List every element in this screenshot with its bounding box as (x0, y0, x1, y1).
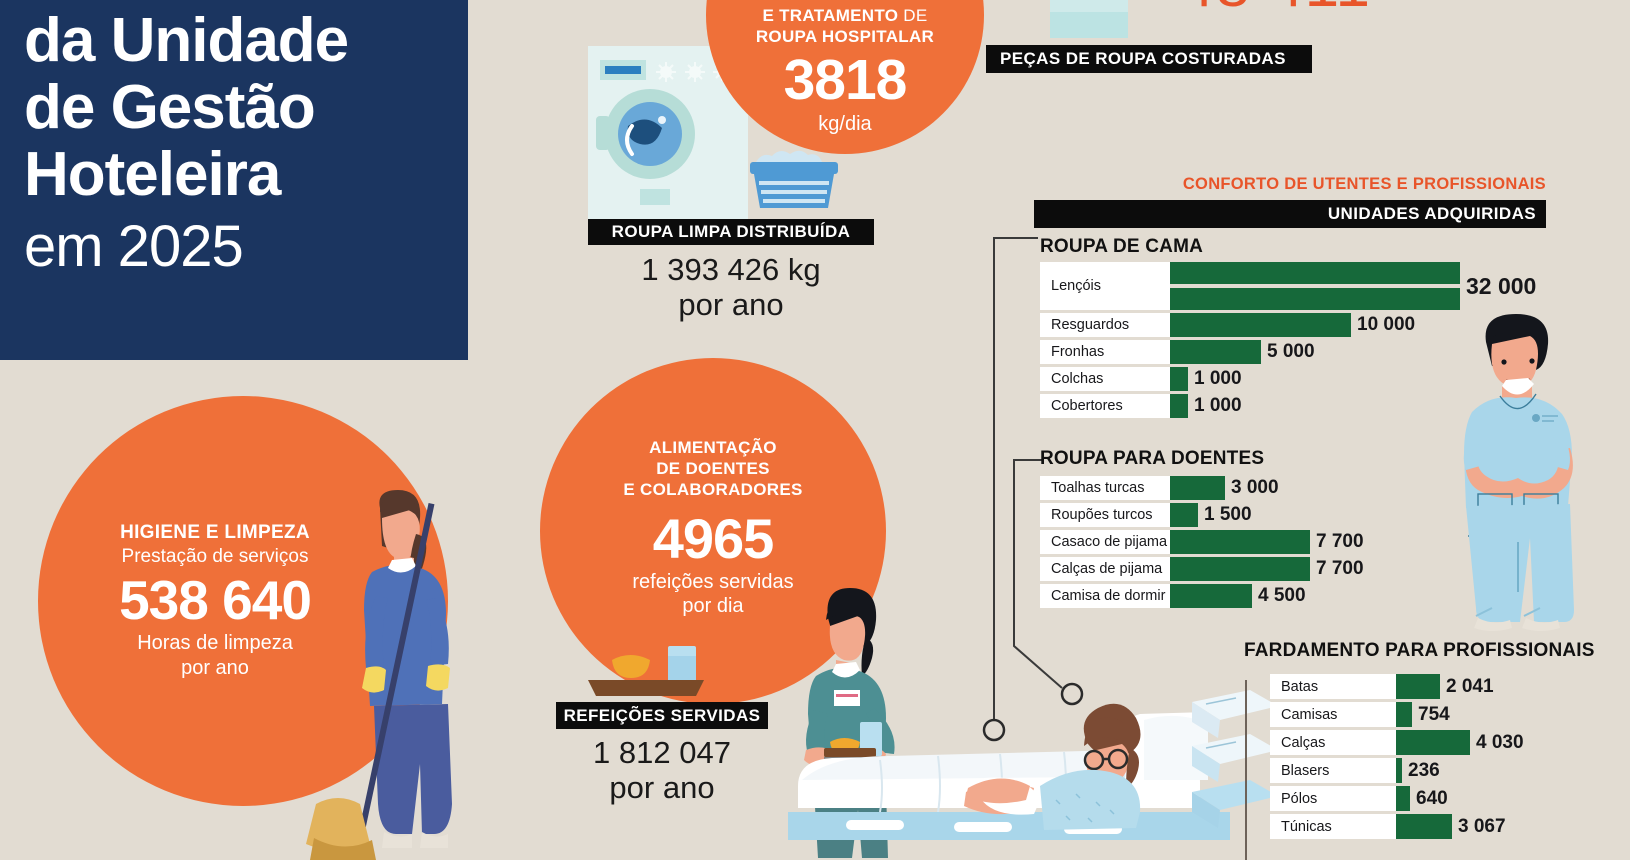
bar-category: Cobertores (1040, 394, 1170, 418)
table-row: Calças de pijama 7 700 (1040, 557, 1520, 581)
bar-value: 4 500 (1252, 585, 1306, 607)
bar-value: 1 500 (1198, 504, 1252, 526)
bar-value: 640 (1410, 788, 1448, 810)
bar-fill (1170, 530, 1310, 554)
bar-value: 3 000 (1225, 477, 1279, 499)
table-row: Lençóis 32 000 (1040, 262, 1600, 310)
meals-heading-3: E COLABORADORES (623, 479, 802, 500)
food-tray-icon (578, 644, 714, 700)
bar-category: Lençóis (1040, 262, 1170, 310)
bar-fill (1396, 786, 1410, 811)
chart-title-roupa-para-doentes: ROUPA PARA DOENTES (1040, 448, 1264, 470)
bar-category: Camisas (1270, 702, 1396, 727)
bar-value: 3 067 (1452, 816, 1506, 838)
bar-fill (1170, 584, 1252, 608)
bar-fill (1170, 262, 1460, 310)
bar-value: 2 041 (1440, 676, 1494, 698)
bar-fill (1170, 313, 1351, 337)
bar-fill (1396, 814, 1452, 839)
laundry-total-unit: por ano (588, 287, 874, 322)
chart-title-roupa-de-cama: ROUPA DE CAMA (1040, 236, 1203, 258)
chart-title-fardamento: FARDAMENTO PARA PROFISSIONAIS (1244, 640, 1595, 662)
page-title-line-4: em 2025 (24, 213, 468, 281)
nurse-illustration (1452, 310, 1582, 632)
page-title-block: da Unidade de Gestão Hoteleira em 2025 (0, 0, 468, 360)
bar-fill (1396, 674, 1440, 699)
bar-value: 236 (1402, 760, 1440, 782)
laundry-total: 1 393 426 kg por ano (588, 252, 874, 323)
page-title-line-3: Hoteleira (24, 142, 468, 209)
meals-value: 4965 (623, 511, 802, 567)
comfort-kicker: CONFORTO DE UTENTES E PROFISSIONAIS (1040, 175, 1546, 194)
sewing-machine-icon (1022, 0, 1144, 38)
bar-category: Colchas (1040, 367, 1170, 391)
bar-fill (1396, 730, 1470, 755)
bar-fill (1170, 476, 1225, 500)
bar-value: 754 (1412, 704, 1450, 726)
bar-fill (1170, 557, 1310, 581)
chart-fardamento: Batas 2 041 Camisas 754 Calças 4 030 Bla… (1270, 674, 1630, 842)
bar-category: Calças de pijama (1040, 557, 1170, 581)
table-row: Camisa de dormir 4 500 (1040, 584, 1520, 608)
bar-value: 5 000 (1261, 341, 1315, 363)
meals-heading-2: DE DOENTES (623, 458, 802, 479)
bar-fill (1170, 340, 1261, 364)
bar-category: Túnicas (1270, 814, 1396, 839)
sewing-bar-label: PEÇAS DE ROUPA COSTURADAS (986, 45, 1312, 73)
bar-fill (1396, 702, 1412, 727)
bar-category: Resguardos (1040, 313, 1170, 337)
cleaner-illustration (276, 486, 454, 860)
laundry-circle-value: 3818 (756, 52, 934, 109)
page-title-line-1: da Unidade (24, 8, 468, 75)
laundry-total-value: 1 393 426 kg (641, 252, 820, 287)
bar-category: Camisa de dormir (1040, 584, 1170, 608)
bar-fill (1170, 503, 1198, 527)
fardamento-divider (1245, 680, 1247, 860)
table-row: Calças 4 030 (1270, 730, 1630, 755)
bar-category: Calças (1270, 730, 1396, 755)
table-row: Casaco de pijama 7 700 (1040, 530, 1520, 554)
meals-total: 1 812 047 por ano (556, 735, 768, 806)
sewing-value: 48 411 (1180, 0, 1371, 21)
laundry-heading-thin: DE (898, 6, 927, 25)
meals-foot-2: por dia (623, 594, 802, 619)
meals-bar-label: REFEIÇÕES SERVIDAS (556, 702, 768, 729)
chart-roupa-para-doentes: Toalhas turcas 3 000 Roupões turcos 1 50… (1040, 476, 1520, 611)
bar-category: Blasers (1270, 758, 1396, 783)
laundry-heading-bold: E TRATAMENTO (762, 6, 898, 25)
bar-category: Fronhas (1040, 340, 1170, 364)
bar-value: 4 030 (1470, 732, 1524, 754)
bar-category: Toalhas turcas (1040, 476, 1170, 500)
meals-heading-1: ALIMENTAÇÃO (623, 437, 802, 458)
laundry-circle-heading: E TRATAMENTO DE (756, 5, 934, 26)
meals-foot-1: refeições servidas (623, 570, 802, 595)
laundry-bar-label: ROUPA LIMPA DISTRIBUÍDA (588, 219, 874, 245)
bar-fill (1170, 394, 1188, 418)
laundry-circle-heading-2: ROUPA HOSPITALAR (756, 26, 934, 47)
laundry-basket-icon (748, 148, 840, 210)
table-row: Camisas 754 (1270, 702, 1630, 727)
laundry-circle-unit: kg/dia (756, 112, 934, 137)
bar-value: 1 000 (1188, 395, 1242, 417)
bar-fill (1170, 367, 1188, 391)
comfort-bar-label: UNIDADES ADQUIRIDAS (1034, 200, 1546, 228)
bar-value: 10 000 (1351, 314, 1415, 336)
table-row: Pólos 640 (1270, 786, 1630, 811)
bar-category: Casaco de pijama (1040, 530, 1170, 554)
page-title-line-2: de Gestão (24, 75, 468, 142)
bar-category: Roupões turcos (1040, 503, 1170, 527)
meals-total-value: 1 812 047 (593, 735, 731, 770)
bar-category: Pólos (1270, 786, 1396, 811)
bar-value: 1 000 (1188, 368, 1242, 390)
bar-value: 32 000 (1460, 273, 1536, 300)
table-row: Batas 2 041 (1270, 674, 1630, 699)
bar-value: 7 700 (1310, 558, 1364, 580)
table-row: Toalhas turcas 3 000 (1040, 476, 1520, 500)
bar-category: Batas (1270, 674, 1396, 699)
table-row: Túnicas 3 067 (1270, 814, 1630, 839)
table-row: Blasers 236 (1270, 758, 1630, 783)
meals-total-unit: por ano (556, 770, 768, 805)
table-row: Roupões turcos 1 500 (1040, 503, 1520, 527)
bar-value: 7 700 (1310, 531, 1364, 553)
